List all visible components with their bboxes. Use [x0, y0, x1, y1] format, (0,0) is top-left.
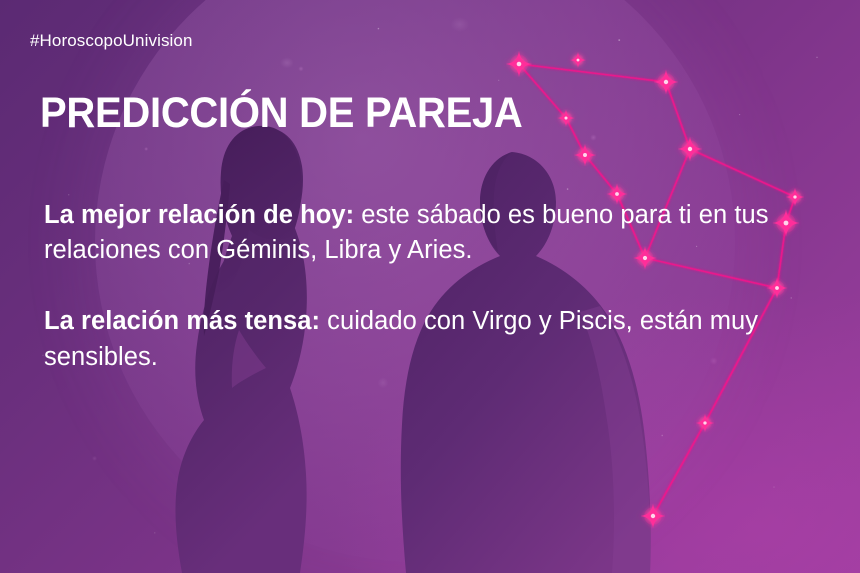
- prediction-label: La relación más tensa:: [44, 307, 320, 335]
- prediction-paragraph: La relación más tensa: cuidado con Virgo…: [44, 304, 814, 374]
- prediction-paragraph: La mejor relación de hoy: este sábado es…: [44, 198, 814, 268]
- page-title: PREDICCIÓN DE PAREJA: [40, 92, 523, 135]
- prediction-label: La mejor relación de hoy:: [44, 201, 354, 229]
- horoscope-card: #HoroscopoUnivision PREDICCIÓN DE PAREJA…: [0, 0, 860, 573]
- card-content: #HoroscopoUnivision PREDICCIÓN DE PAREJA…: [0, 0, 860, 573]
- hashtag-label: #HoroscopoUnivision: [30, 31, 193, 51]
- prediction-body: La mejor relación de hoy: este sábado es…: [44, 198, 814, 375]
